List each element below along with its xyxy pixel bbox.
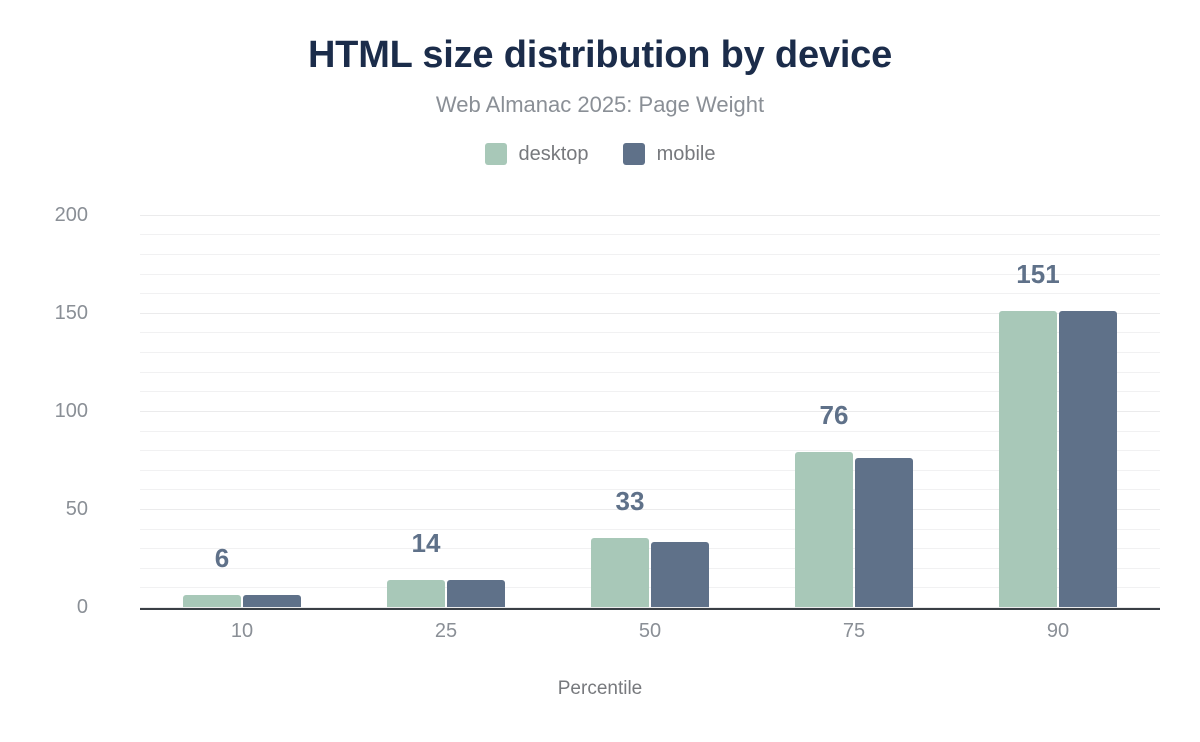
bar-mobile-75[interactable] (855, 458, 913, 607)
x-tick-label-75: 75 (752, 619, 956, 643)
gridline-major (140, 607, 1160, 608)
bar-group-10: 610 (140, 205, 344, 607)
x-tick-label-10: 10 (140, 619, 344, 643)
plot-wrapper: Total page weight (KB) 05010015020061014… (0, 0, 1200, 742)
x-tick-label-25: 25 (344, 619, 548, 643)
bar-desktop-10[interactable] (183, 595, 241, 607)
y-tick-label: 50 (28, 499, 88, 519)
bar-desktop-50[interactable] (591, 538, 649, 607)
x-axis-title: Percentile (0, 678, 1200, 700)
bar-group-50: 3350 (548, 205, 752, 607)
bar-desktop-90[interactable] (999, 311, 1057, 607)
bar-mobile-90[interactable] (1059, 311, 1117, 607)
bar-group-90: 15190 (956, 205, 1160, 607)
bar-mobile-50[interactable] (651, 542, 709, 607)
y-tick-label: 0 (28, 597, 88, 617)
bar-value-label-90: 151 (938, 259, 1138, 289)
bar-group-75: 7675 (752, 205, 956, 607)
bar-desktop-25[interactable] (387, 580, 445, 607)
plot-area: 05010015020061014253350767515190 (140, 205, 1160, 607)
bar-group-25: 1425 (344, 205, 548, 607)
bar-value-label-50: 33 (530, 486, 730, 516)
bar-desktop-75[interactable] (795, 452, 853, 607)
y-tick-label: 100 (28, 401, 88, 421)
chart-container: HTML size distribution by device Web Alm… (0, 0, 1200, 742)
x-tick-label-50: 50 (548, 619, 752, 643)
bar-value-label-25: 14 (326, 528, 526, 558)
y-tick-label: 150 (28, 303, 88, 323)
bar-value-label-75: 76 (734, 400, 934, 430)
bar-mobile-10[interactable] (243, 595, 301, 607)
bar-value-label-10: 6 (122, 543, 322, 573)
x-tick-label-90: 90 (956, 619, 1160, 643)
y-tick-label: 200 (28, 205, 88, 225)
bar-mobile-25[interactable] (447, 580, 505, 607)
